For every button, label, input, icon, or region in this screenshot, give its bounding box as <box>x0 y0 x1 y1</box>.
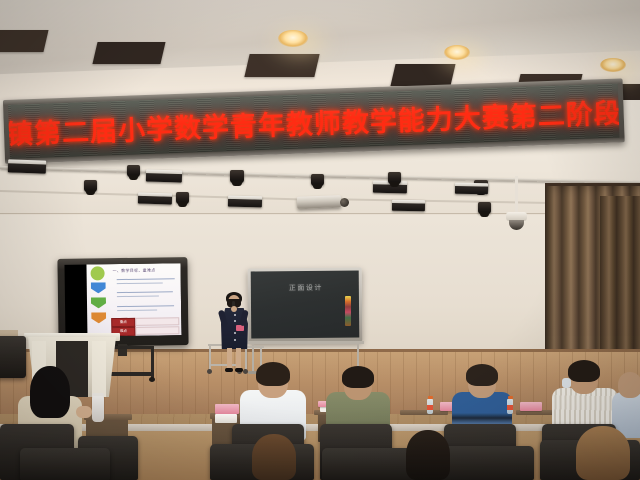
dress-button <box>234 339 236 341</box>
slide-chevron <box>91 266 105 280</box>
attendee-hair <box>252 434 296 480</box>
blackboard-tray <box>246 341 364 344</box>
attendee-hair <box>256 362 290 386</box>
ceiling-projector <box>297 195 341 209</box>
presenter-hand <box>231 306 237 312</box>
slide-chevron <box>91 282 106 293</box>
stage-light-fresnel <box>392 200 425 212</box>
slide-chevron <box>91 297 106 308</box>
stage-curtain <box>600 196 640 364</box>
stage-light-par <box>127 165 140 177</box>
stage-light-fresnel <box>138 193 172 205</box>
downlight <box>444 45 470 60</box>
slide-text-line <box>117 282 163 284</box>
stage-light-fresnel <box>146 169 182 182</box>
slide-key-point-text <box>135 317 179 326</box>
slide-text-line <box>117 278 175 280</box>
camera-mount-rod <box>515 176 518 214</box>
dress-button <box>234 332 236 334</box>
pink-booklet <box>215 404 239 414</box>
stage-light-par <box>176 192 189 204</box>
stage-light-fresnel <box>8 159 46 173</box>
auditorium-photo: 古镇镇第二届小学数学青年教师教学能力大赛第二阶段比赛 一、教学目标、重难点 <box>0 0 640 480</box>
desk-box <box>215 414 237 423</box>
dress-button <box>234 314 236 316</box>
stage-light-par <box>388 172 401 184</box>
stage-light-par <box>84 180 97 192</box>
attendee-hair <box>568 360 600 382</box>
attendee-hair <box>342 366 374 388</box>
face-mask-strap-icon <box>562 378 571 388</box>
auditorium-chair <box>20 448 110 480</box>
slide-text-line <box>117 310 157 312</box>
attendee-hair <box>576 426 630 480</box>
ceiling-panel <box>0 30 49 52</box>
white-tumbler <box>92 396 104 422</box>
attendee-hair <box>406 430 450 480</box>
presenter-shoe-right <box>235 368 243 372</box>
blackboard-chalk-text: 正面设计 <box>289 283 323 293</box>
attendee-hand <box>76 406 92 418</box>
slide-content: 一、教学目标、重难点 重点 难点 <box>86 263 181 336</box>
slide-text-line <box>117 305 174 307</box>
blackboard-surface: 正面设计 <box>251 271 360 339</box>
bottle-label <box>507 405 513 410</box>
pink-booklet <box>520 402 542 411</box>
slide-text-line <box>117 295 159 297</box>
slide-key-point-box: 重点 <box>111 318 135 327</box>
slide-chevron <box>91 312 106 323</box>
display-screen: 一、教学目标、重难点 重点 难点 <box>64 263 181 337</box>
stage-light-par <box>311 174 324 186</box>
downlight <box>600 58 626 72</box>
slide-title: 一、教学目标、重难点 <box>113 268 156 275</box>
attendee-hair <box>466 364 498 386</box>
dress-button <box>234 320 236 322</box>
stage-light-par <box>230 170 244 183</box>
slide-text-line <box>117 291 173 293</box>
wall-seam <box>0 213 640 214</box>
ceiling-panel <box>92 42 165 64</box>
stacked-chair <box>0 336 26 378</box>
stage-light-fresnel <box>455 183 488 195</box>
presenter-leg-right <box>236 348 241 370</box>
lectern-panel <box>92 341 106 397</box>
downlight <box>278 30 308 47</box>
stage-light-fresnel <box>228 196 262 208</box>
presenter-shoe-left <box>225 368 233 372</box>
stage-light-par <box>478 202 491 214</box>
attendee-head <box>618 372 640 398</box>
blackboard-magnets <box>345 296 351 326</box>
bottle-label <box>427 405 433 410</box>
slide-key-point-text <box>135 326 179 335</box>
presenter-leg-left <box>227 348 232 370</box>
projector-lens-icon <box>340 198 349 207</box>
attendee-hair <box>30 366 70 418</box>
